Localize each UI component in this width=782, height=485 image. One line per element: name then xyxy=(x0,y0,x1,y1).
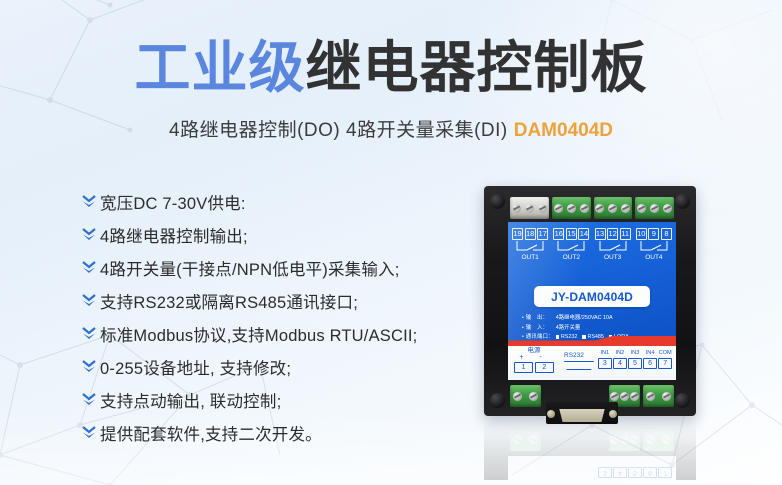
terminal-number: 19 xyxy=(512,228,523,240)
terminal-number: 15 xyxy=(566,228,577,240)
screw-icon xyxy=(608,204,617,213)
terminal-number: 2 xyxy=(535,362,554,373)
power-label: 电源 xyxy=(514,347,554,354)
input-label: COM xyxy=(658,350,672,357)
list-item: 宽压DC 7-30V供电: xyxy=(78,186,478,217)
mounting-hole-icon xyxy=(675,194,690,209)
feature-text: 宽压DC 7-30V供电: xyxy=(100,190,246,214)
input-label: IN3 xyxy=(628,350,642,357)
feature-text: 标准Modbus协议,支持Modbus RTU/ASCII; xyxy=(100,322,417,346)
list-item: 4路继电器控制输出; xyxy=(78,219,478,250)
feature-text: 支持点动输出, 联动控制; xyxy=(100,388,281,412)
product-reflection: IN1 IN2 IN3 IN4 COM 3 4 5 6 7 xyxy=(484,420,696,480)
bottom-label-band: 电源 + - 1 2 RS232 IN1 IN2 IN3 IN4 COM 3 xyxy=(508,346,676,380)
terminal-number: 9 xyxy=(648,228,659,240)
input-terminal-numbers: 3 4 5 6 7 xyxy=(598,358,672,369)
list-item: 支持点动输出, 联动控制; xyxy=(78,384,478,415)
title-dark-segment: 继电器控制板 xyxy=(306,36,648,99)
power-terminal-numbers: 1 2 xyxy=(514,362,554,373)
terminal-block xyxy=(510,197,549,219)
bullet-dot-icon: • xyxy=(522,314,524,322)
relay-symbol-icon xyxy=(595,241,631,254)
spec-value: 4路开关量 xyxy=(556,324,672,332)
bullet-dot-icon: • xyxy=(522,324,524,332)
terminal-number: 18 xyxy=(525,228,536,240)
feature-text: 4路开关量(干接点/NPN低电平)采集输入; xyxy=(100,256,400,280)
output-label: OUT3 xyxy=(595,254,631,261)
screw-icon xyxy=(595,204,604,213)
screw-icon xyxy=(662,392,671,401)
double-chevron-down-icon xyxy=(78,359,100,374)
terminal-number: 4 xyxy=(613,358,627,369)
output-group: 13 12 11 OUT3 xyxy=(595,228,631,261)
screw-icon xyxy=(580,204,589,213)
input-terminal-group: IN1 IN2 IN3 IN4 COM 3 4 5 6 7 xyxy=(598,350,672,369)
screw-icon xyxy=(513,392,522,401)
subtitle-text: 4路继电器控制(DO) 4路开关量采集(DI) xyxy=(169,120,508,141)
double-chevron-down-icon xyxy=(78,194,100,209)
terminal-block xyxy=(635,197,674,219)
top-terminal-blocks xyxy=(510,197,674,219)
screw-icon xyxy=(663,204,672,213)
power-polarity: + - xyxy=(514,354,554,361)
model-plate-text: JY-DAM0404D xyxy=(551,290,633,304)
output-terminal-map: 19 18 17 OUT1 16 15 14 xyxy=(512,228,672,261)
screw-icon xyxy=(650,204,659,213)
input-labels: IN1 IN2 IN3 IN4 COM xyxy=(598,350,672,357)
terminal-number: 1 xyxy=(514,362,533,373)
terminal-numbers: 10 9 8 xyxy=(636,228,672,240)
terminal-block xyxy=(552,197,591,219)
product-image: 19 18 17 OUT1 16 15 14 xyxy=(484,186,696,416)
output-group: 10 9 8 OUT4 xyxy=(636,228,672,261)
spec-value: 4路继电器/250VAC 10A xyxy=(556,314,672,322)
power-terminal-group: 电源 + - 1 2 xyxy=(514,347,554,373)
terminal-number: 8 xyxy=(661,228,672,240)
screw-icon xyxy=(525,204,534,213)
terminal-numbers: 16 15 14 xyxy=(553,228,589,240)
spec-key: 输 入： xyxy=(526,324,556,332)
terminal-number: 14 xyxy=(578,228,589,240)
feature-text: 0-255设备地址, 支持修改; xyxy=(100,355,291,379)
output-label: OUT1 xyxy=(512,254,548,261)
terminal-number: 13 xyxy=(595,228,606,240)
network-decoration-top-left xyxy=(0,0,230,210)
screw-icon xyxy=(646,392,655,401)
terminal-numbers: 13 12 11 xyxy=(595,228,631,240)
terminal-number: 11 xyxy=(620,228,631,240)
double-chevron-down-icon xyxy=(78,260,100,275)
screw-icon xyxy=(567,204,576,213)
connector-bolt-icon xyxy=(609,410,617,418)
poster-canvas: 工业级继电器控制板 4路继电器控制(DO) 4路开关量采集(DI)DAM0404… xyxy=(0,0,782,485)
terminal-number: 3 xyxy=(598,358,612,369)
db9-outline-icon xyxy=(562,361,596,370)
screw-icon xyxy=(529,392,538,401)
list-item: 0-255设备地址, 支持修改; xyxy=(78,351,478,382)
terminal-numbers: 19 18 17 xyxy=(512,228,548,240)
page-subtitle: 4路继电器控制(DO) 4路开关量采集(DI)DAM0404D xyxy=(0,118,782,144)
output-group: 19 18 17 OUT1 xyxy=(512,228,548,261)
list-item: 支持RS232或隔离RS485通讯接口; xyxy=(78,285,478,316)
screw-icon xyxy=(621,204,630,213)
list-item: 4路开关量(干接点/NPN低电平)采集输入; xyxy=(78,252,478,283)
terminal-number: 7 xyxy=(658,358,672,369)
input-label: IN4 xyxy=(643,350,657,357)
list-item: 提供配套软件,支持二次开发。 xyxy=(78,417,478,448)
terminal-number: 12 xyxy=(607,228,618,240)
screw-icon xyxy=(538,204,547,213)
mounting-hole-icon xyxy=(490,194,505,209)
double-chevron-down-icon xyxy=(78,227,100,242)
screw-icon xyxy=(610,392,619,401)
screw-icon xyxy=(512,204,521,213)
model-name: DAM0404D xyxy=(514,120,613,141)
double-chevron-down-icon xyxy=(78,326,100,341)
terminal-number: 5 xyxy=(628,358,642,369)
input-label: IN2 xyxy=(613,350,627,357)
terminal-block xyxy=(643,385,674,407)
screw-icon xyxy=(637,204,646,213)
serial-port-label: RS232 xyxy=(564,352,584,359)
double-chevron-down-icon xyxy=(78,293,100,308)
relay-symbol-icon xyxy=(636,241,672,254)
title-blue-segment: 工业级 xyxy=(135,36,306,99)
double-chevron-down-icon xyxy=(78,392,100,407)
spec-row-input: • 输 入： 4路开关量 xyxy=(522,324,672,332)
terminal-block xyxy=(594,197,633,219)
relay-symbol-icon xyxy=(553,241,589,254)
input-label: IN1 xyxy=(598,350,612,357)
terminal-number: 16 xyxy=(553,228,564,240)
screw-icon xyxy=(630,392,639,401)
screw-icon xyxy=(620,392,629,401)
model-plate: JY-DAM0404D xyxy=(534,286,650,307)
connector-shell xyxy=(555,409,609,422)
spec-row-output: • 输 出： 4路继电器/250VAC 10A xyxy=(522,314,672,322)
output-label: OUT4 xyxy=(636,254,672,261)
terminal-block xyxy=(510,385,541,407)
terminal-number: 10 xyxy=(636,228,647,240)
page-title: 工业级继电器控制板 xyxy=(0,36,782,100)
terminal-number: 6 xyxy=(643,358,657,369)
relay-symbol-icon xyxy=(512,241,548,254)
output-group: 16 15 14 OUT2 xyxy=(553,228,589,261)
output-label: OUT2 xyxy=(553,254,589,261)
connector-bolt-icon xyxy=(547,410,555,418)
feature-text: 4路继电器控制输出; xyxy=(100,223,248,247)
terminal-number: 17 xyxy=(537,228,548,240)
db9-serial-connector xyxy=(546,402,618,424)
mounting-hole-icon xyxy=(675,393,690,408)
double-chevron-down-icon xyxy=(78,425,100,440)
feature-text: 提供配套软件,支持二次开发。 xyxy=(100,421,322,445)
spec-key: 输 出： xyxy=(526,314,556,322)
feature-list: 宽压DC 7-30V供电: 4路继电器控制输出; 4路开关量(干接点/NPN低电… xyxy=(78,186,478,450)
feature-text: 支持RS232或隔离RS485通讯接口; xyxy=(100,289,358,313)
list-item: 标准Modbus协议,支持Modbus RTU/ASCII; xyxy=(78,318,478,349)
mounting-hole-icon xyxy=(490,393,505,408)
screw-icon xyxy=(554,204,563,213)
